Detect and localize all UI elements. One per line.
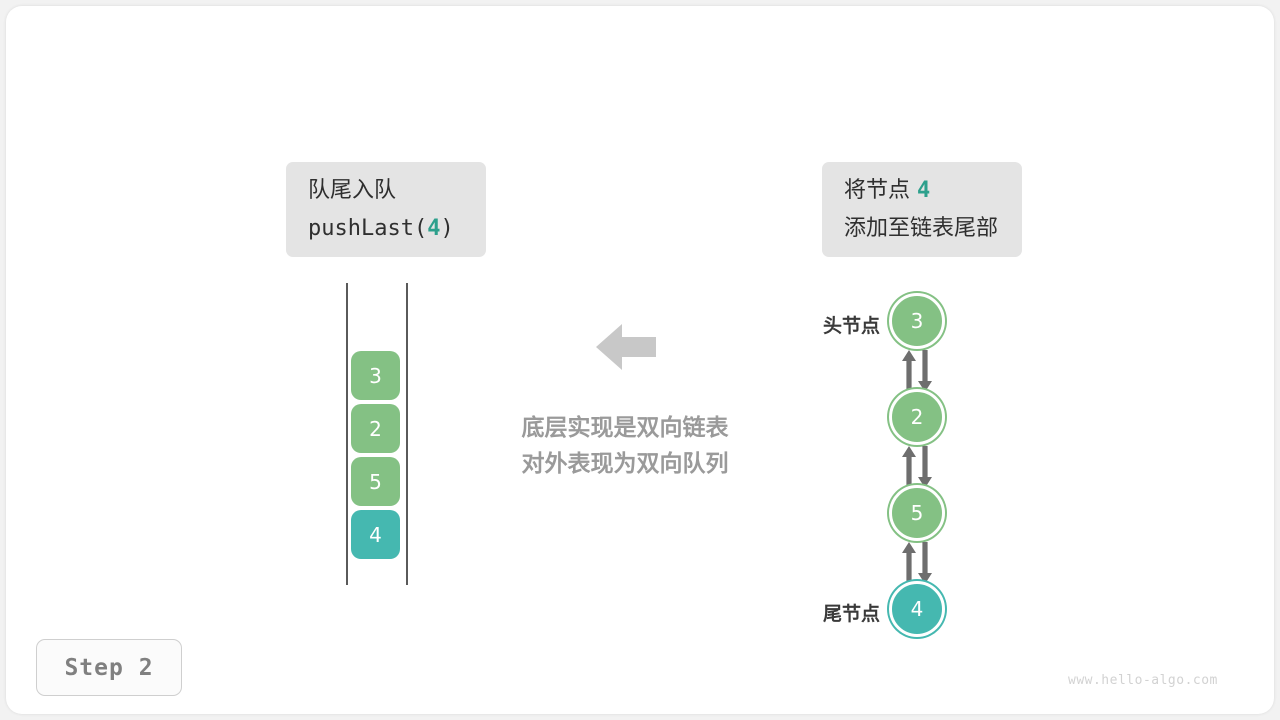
caption-line2: 对外表现为双向队列 bbox=[470, 446, 780, 482]
watermark: www.hello-algo.com bbox=[1068, 673, 1218, 688]
center-caption: 底层实现是双向链表 对外表现为双向队列 bbox=[470, 410, 780, 482]
push-code-value: 4 bbox=[427, 216, 440, 241]
linked-list-container: 3头节点254尾节点 bbox=[770, 283, 990, 648]
list-node-label: 尾节点 bbox=[770, 599, 880, 626]
append-line1-prefix: 将节点 bbox=[844, 178, 917, 203]
list-node: 3 bbox=[889, 293, 945, 349]
list-node-value: 3 bbox=[911, 309, 924, 333]
deque-cell: 2 bbox=[351, 404, 400, 453]
deque-container: 3254 bbox=[340, 283, 416, 585]
bidirectional-link-arrows-icon bbox=[900, 542, 934, 584]
push-code-suffix: ) bbox=[440, 216, 453, 241]
deque-cell: 3 bbox=[351, 351, 400, 400]
list-node: 2 bbox=[889, 389, 945, 445]
list-node-value: 2 bbox=[911, 405, 924, 429]
label-box-append-operation: 将节点 4 添加至链表尾部 bbox=[822, 162, 1022, 257]
deque-cell: 4 bbox=[351, 510, 400, 559]
deque-cell-value: 5 bbox=[369, 470, 382, 494]
diagram-canvas: 队尾入队 pushLast(4) 将节点 4 添加至链表尾部 3254 底层实现… bbox=[0, 0, 1280, 720]
deque-cell: 5 bbox=[351, 457, 400, 506]
step-badge: Step 2 bbox=[36, 639, 182, 696]
left-block-arrow-icon bbox=[596, 322, 656, 372]
list-node: 5 bbox=[889, 485, 945, 541]
deque-rail-left bbox=[346, 283, 348, 585]
label-box-push-operation: 队尾入队 pushLast(4) bbox=[286, 162, 486, 257]
push-label-line1: 队尾入队 bbox=[308, 172, 464, 210]
deque-cell-value: 3 bbox=[369, 364, 382, 388]
bidirectional-link-arrows-icon bbox=[900, 446, 934, 488]
append-label-line2: 添加至链表尾部 bbox=[844, 210, 1000, 248]
list-node-value: 5 bbox=[911, 501, 924, 525]
push-label-code: pushLast(4) bbox=[308, 210, 464, 248]
append-line1-value: 4 bbox=[917, 178, 930, 203]
list-node-value: 4 bbox=[911, 597, 924, 621]
bidirectional-link-arrows-icon bbox=[900, 350, 934, 392]
deque-cell-value: 4 bbox=[369, 523, 382, 547]
caption-line1: 底层实现是双向链表 bbox=[470, 410, 780, 446]
push-code-prefix: pushLast( bbox=[308, 216, 427, 241]
append-label-line1: 将节点 4 bbox=[844, 172, 1000, 210]
deque-cell-value: 2 bbox=[369, 417, 382, 441]
list-node-label: 头节点 bbox=[770, 311, 880, 338]
deque-rail-right bbox=[406, 283, 408, 585]
list-node: 4 bbox=[889, 581, 945, 637]
